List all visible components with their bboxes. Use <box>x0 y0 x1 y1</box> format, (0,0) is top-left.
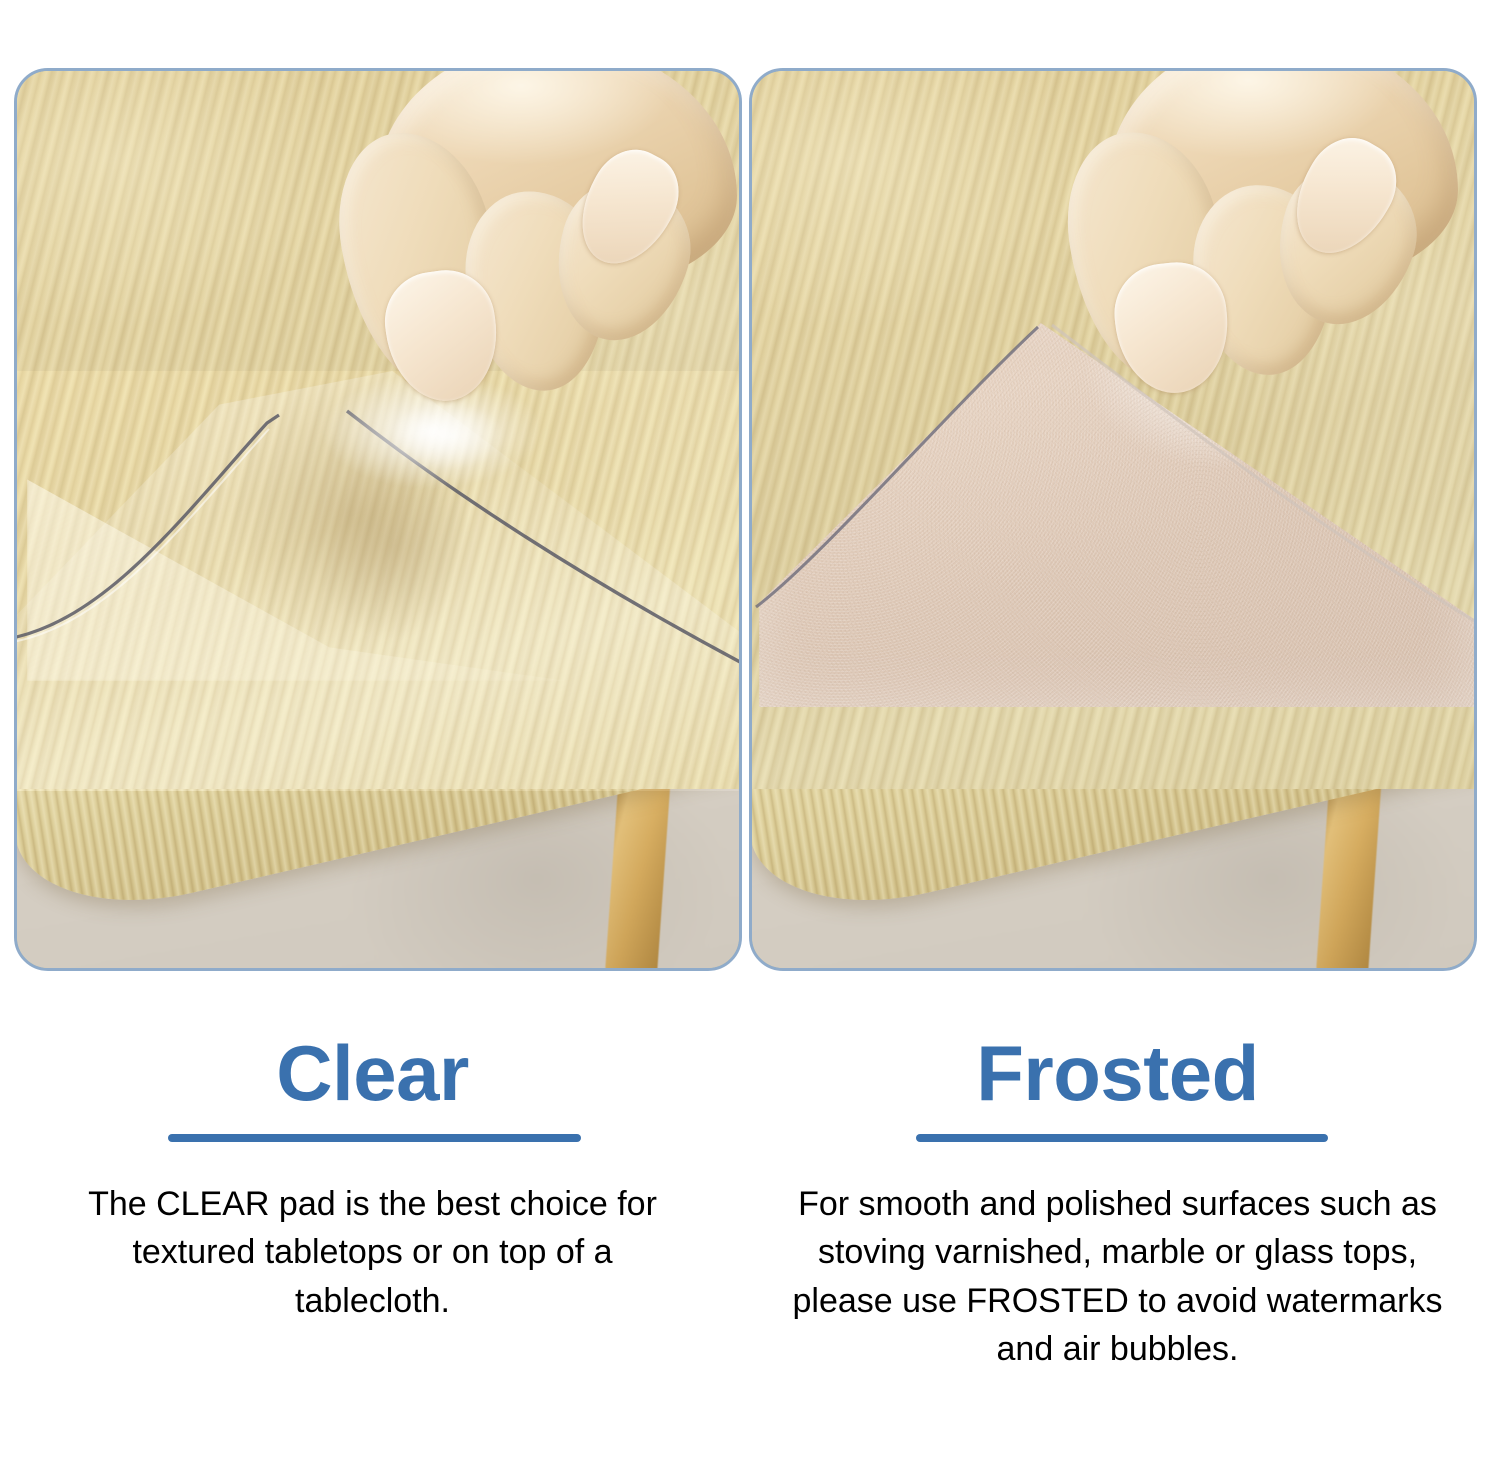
caption-body-clear: The CLEAR pad is the best choice for tex… <box>58 1180 688 1325</box>
photo-panel-row <box>0 0 1491 1000</box>
caption-title-frosted: Frosted <box>976 1034 1259 1112</box>
caption-divider-clear <box>168 1134 581 1142</box>
caption-body-frosted: For smooth and polished surfaces such as… <box>768 1180 1468 1373</box>
caption-frosted: Frosted For smooth and polished surfaces… <box>745 1000 1490 1474</box>
photo-panel-clear <box>14 68 742 971</box>
caption-clear: Clear The CLEAR pad is the best choice f… <box>0 1000 745 1474</box>
hand <box>1038 71 1458 425</box>
product-comparison-graphic: Clear The CLEAR pad is the best choice f… <box>0 0 1491 1474</box>
caption-row: Clear The CLEAR pad is the best choice f… <box>0 1000 1491 1474</box>
caption-title-clear: Clear <box>276 1034 469 1112</box>
caption-divider-frosted <box>916 1134 1328 1142</box>
photo-panel-frosted <box>749 68 1477 971</box>
frosted-product-photo <box>752 71 1474 968</box>
hand <box>317 71 739 441</box>
clear-product-photo <box>17 71 739 968</box>
